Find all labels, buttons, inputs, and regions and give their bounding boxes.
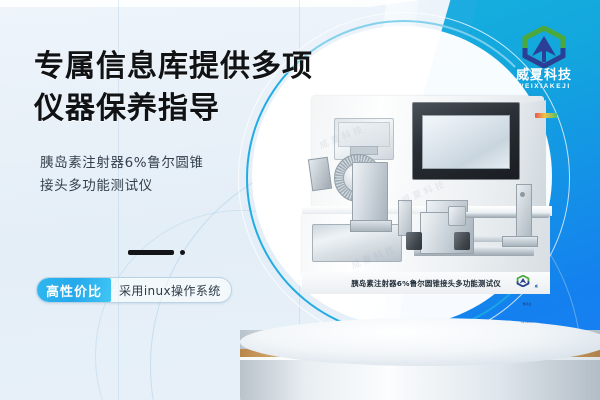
fixture-knob-left[interactable]	[406, 232, 422, 250]
tag-high-value[interactable]: 高性价比	[37, 278, 111, 302]
fixture-post	[398, 200, 412, 236]
product-instrument: 胰岛素注射器6%鲁尔圆锥接头多功能测试仪 威夏科技 WEIXIAKEJI	[302, 96, 558, 296]
fixture-knob-right[interactable]	[454, 232, 470, 250]
subtitle-line-1: 胰岛素注射器6%鲁尔圆锥	[40, 152, 305, 175]
divider-dot	[180, 250, 185, 255]
brand-logo: 威夏科技 WEIXIAKEJI	[498, 26, 590, 91]
instrument-caption-text: 胰岛素注射器6%鲁尔圆锥接头多功能测试仪	[351, 278, 501, 289]
pedestal-top-surface	[240, 318, 600, 366]
clamp-block-foot	[350, 220, 392, 232]
hexagon-arrow-logo-icon	[498, 26, 590, 68]
hmi-screen-surface[interactable]	[422, 115, 510, 169]
end-bracket-hole	[520, 192, 525, 197]
instrument-caption-logo: 威夏科技 WEIXIAKEJI	[516, 274, 538, 328]
hexagon-arrow-logo-icon-small	[516, 275, 530, 287]
brand-name-cn: 威夏科技	[498, 69, 590, 83]
end-bracket-base	[502, 236, 538, 247]
instrument-caption-logo-cn: 威夏科技	[522, 284, 537, 306]
tag-operating-system[interactable]: 采用inux操作系统	[111, 278, 231, 302]
instrument-caption-logo-en: WEIXIAKEJI	[521, 322, 533, 324]
top-white-strip	[0, 0, 420, 7]
poster-canvas: 威夏科技 WEIXIAKEJI 专属信息库提供多项 仪器保养指导 胰岛素注射器6…	[0, 0, 600, 400]
instrument-front-caption: 胰岛素注射器6%鲁尔圆锥接头多功能测试仪 威夏科技 WEIXIAKEJI	[302, 272, 550, 294]
plunger-head	[448, 206, 466, 226]
divider-bar	[128, 250, 174, 255]
hmi-status-led	[535, 113, 557, 118]
feature-tag-group: 高性价比 采用inux操作系统	[36, 277, 232, 303]
headline-line-2: 仪器保养指导	[34, 88, 334, 130]
brand-name-en: WEIXIAKEJI	[498, 83, 590, 91]
clamp-arm	[308, 157, 332, 191]
plunger-rod	[454, 212, 550, 218]
subtitle-line-2: 接头多功能测试仪	[40, 175, 305, 198]
headline-line-1: 专属信息库提供多项	[34, 46, 334, 88]
headline: 专属信息库提供多项 仪器保养指导	[34, 46, 334, 130]
clamp-block	[352, 162, 388, 226]
subtitle: 胰岛素注射器6%鲁尔圆锥 接头多功能测试仪	[40, 152, 305, 198]
instrument-door-window	[338, 122, 390, 147]
